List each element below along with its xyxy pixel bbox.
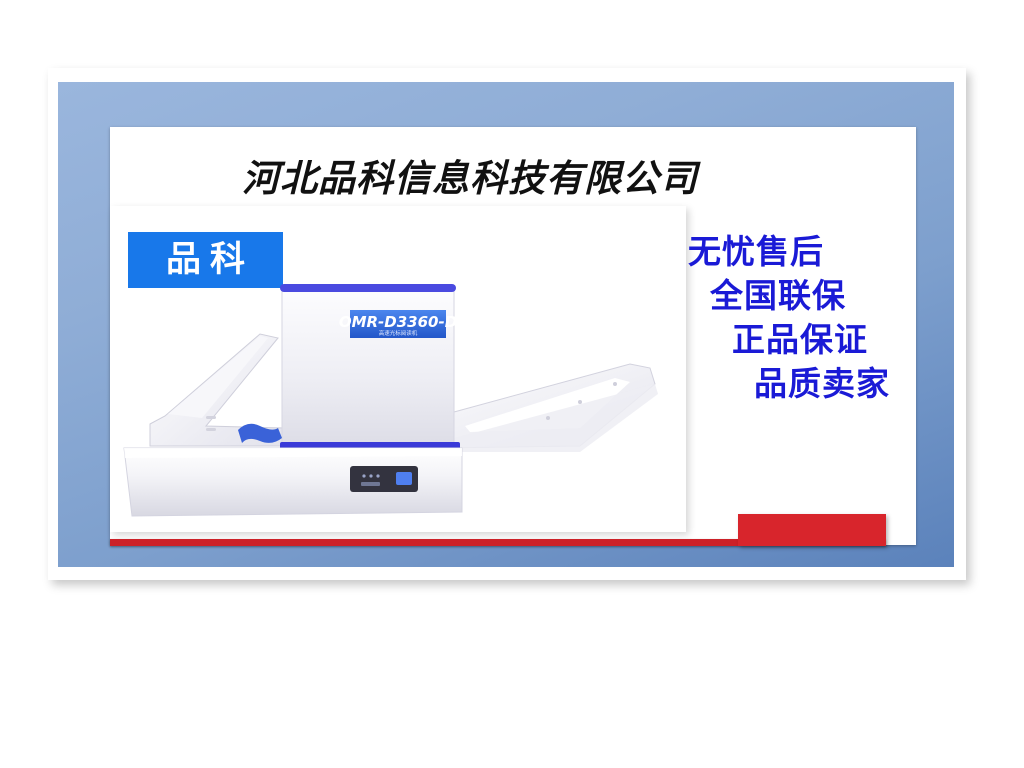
- slogan-item: 品质卖家: [754, 362, 916, 406]
- brand-logo-label: 品科: [157, 243, 254, 278]
- control-panel: [350, 466, 418, 492]
- paper-guide-knob: [238, 424, 282, 443]
- slogan-item: 全国联保: [710, 274, 916, 318]
- machine-body: OMR-D3360-D 高速光标阅读机: [280, 284, 460, 450]
- device-model-text: OMR-D3360-D: [339, 313, 457, 331]
- red-accent-block: [738, 514, 886, 546]
- slogan-item: 无忧售后: [688, 230, 916, 274]
- slogan-list: 无忧售后 全国联保 正品保证 品质卖家: [688, 230, 916, 406]
- slogan-item: 正品保证: [732, 318, 916, 362]
- device-model-subtext: 高速光标阅读机: [379, 329, 418, 337]
- product-photo-card: 品科: [110, 206, 686, 532]
- page-title: 河北品科信息科技有限公司: [150, 148, 790, 202]
- omr-machine-illustration: OMR-D3360-D 高速光标阅读机: [110, 276, 686, 532]
- poster-canvas: 河北品科信息科技有限公司 品科: [0, 0, 1024, 768]
- machine-base: [124, 448, 462, 516]
